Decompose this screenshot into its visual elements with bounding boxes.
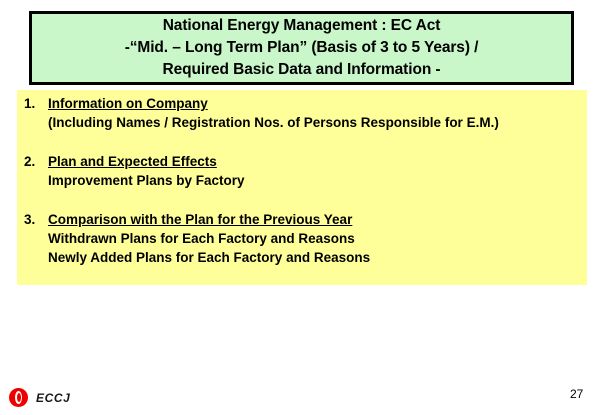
list-item-body: Information on Company (Including Names …: [48, 94, 499, 132]
list-item-subline: Newly Added Plans for Each Factory and R…: [48, 248, 370, 267]
slide-canvas: National Energy Management : EC Act -“Mi…: [0, 0, 600, 415]
list-item-heading: Plan and Expected Effects: [48, 152, 245, 171]
list-item-body: Plan and Expected Effects Improvement Pl…: [48, 152, 245, 190]
footer-logo: ECCJ: [9, 388, 70, 407]
page-number: 27: [570, 387, 583, 401]
list-item-number: 3.: [24, 210, 48, 229]
list-item-subline: Improvement Plans by Factory: [48, 171, 245, 190]
list-item-number: 2.: [24, 152, 48, 171]
list-item: 3. Comparison with the Plan for the Prev…: [24, 210, 370, 267]
list-item-heading: Comparison with the Plan for the Previou…: [48, 210, 370, 229]
eccj-logo-icon: [9, 388, 28, 407]
list-item: 1. Information on Company (Including Nam…: [24, 94, 499, 132]
logo-lens-inner: [17, 393, 21, 402]
list-item-heading: Information on Company: [48, 94, 499, 113]
content-panel: 1. Information on Company (Including Nam…: [17, 90, 587, 285]
list-item: 2. Plan and Expected Effects Improvement…: [24, 152, 245, 190]
list-item-body: Comparison with the Plan for the Previou…: [48, 210, 370, 267]
title-line-2: -“Mid. – Long Term Plan” (Basis of 3 to …: [125, 37, 479, 59]
eccj-logo-text: ECCJ: [36, 391, 70, 405]
title-box: National Energy Management : EC Act -“Mi…: [29, 11, 574, 85]
list-item-subline: Withdrawn Plans for Each Factory and Rea…: [48, 229, 370, 248]
list-item-number: 1.: [24, 94, 48, 113]
title-line-1: National Energy Management : EC Act: [163, 15, 441, 37]
list-item-subline: (Including Names / Registration Nos. of …: [48, 113, 499, 132]
title-line-3: Required Basic Data and Information -: [163, 59, 441, 81]
